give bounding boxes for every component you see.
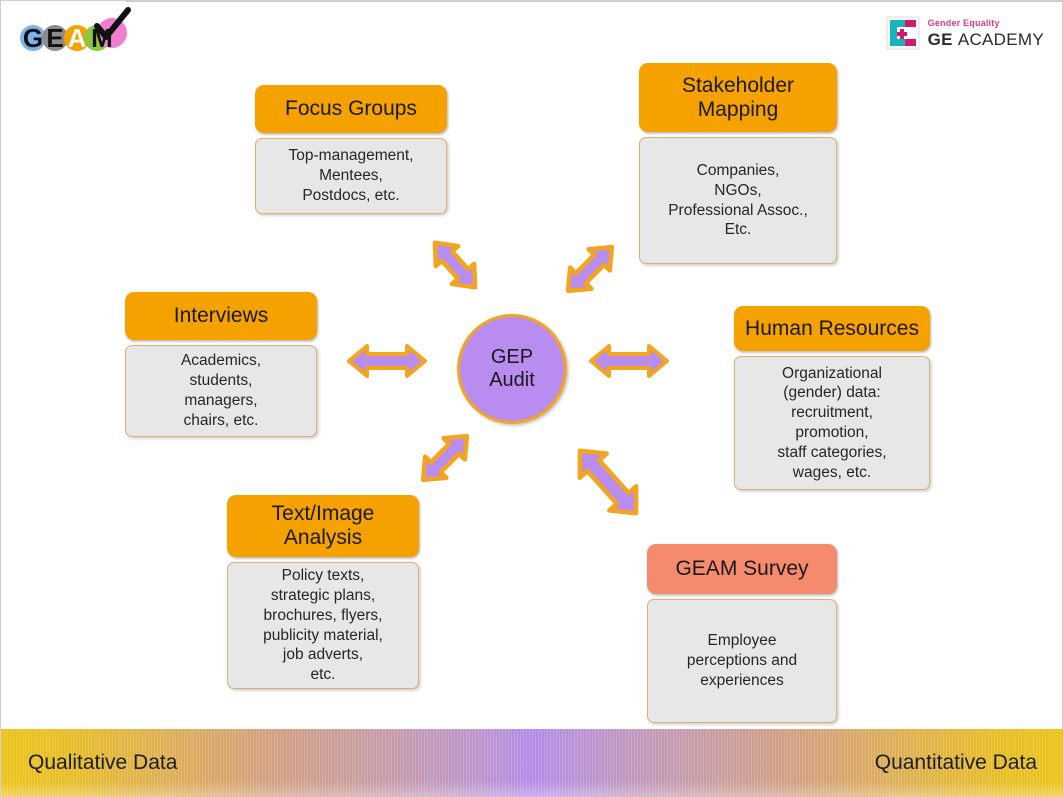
geam-logo-letter-g: G bbox=[23, 23, 43, 53]
node-focus-groups-body: Top-management, Mentees, Postdocs, etc. bbox=[255, 138, 447, 214]
arrow-lower-left bbox=[412, 426, 478, 490]
node-interviews-title[interactable]: Interviews bbox=[125, 292, 317, 340]
ge-academy-name: GE ACADEMY bbox=[928, 31, 1044, 48]
geam-logo-letter-e: E bbox=[46, 23, 63, 53]
ge-academy-tagline: Gender Equality bbox=[928, 19, 1044, 28]
node-focus-groups[interactable]: Focus Groups Top-management, Mentees, Po… bbox=[255, 85, 447, 214]
node-stakeholder-mapping-title[interactable]: Stakeholder Mapping bbox=[639, 63, 837, 132]
quantitative-data-label: Quantitative Data bbox=[875, 751, 1037, 775]
node-text-image-analysis[interactable]: Text/Image Analysis Policy texts, strate… bbox=[227, 495, 419, 689]
arrow-right bbox=[589, 342, 669, 380]
ge-academy-name-rest: ACADEMY bbox=[958, 30, 1044, 49]
node-stakeholder-mapping[interactable]: Stakeholder Mapping Companies, NGOs, Pro… bbox=[639, 63, 837, 264]
node-interviews[interactable]: Interviews Academics, students, managers… bbox=[125, 292, 317, 437]
hub-line-1: GEP bbox=[491, 346, 533, 369]
arrow-left bbox=[347, 342, 427, 380]
node-geam-survey[interactable]: GEAM Survey Employee perceptions and exp… bbox=[647, 544, 837, 723]
node-text-image-analysis-title[interactable]: Text/Image Analysis bbox=[227, 495, 419, 557]
geam-logo-letter-a: A bbox=[68, 23, 87, 53]
node-stakeholder-mapping-body: Companies, NGOs, Professional Assoc., Et… bbox=[639, 137, 837, 264]
ge-academy-name-bold: GE bbox=[928, 30, 958, 49]
node-text-image-analysis-body: Policy texts, strategic plans, brochures… bbox=[227, 562, 419, 689]
ge-academy-mark-icon bbox=[886, 16, 920, 50]
qualitative-data-label: Qualitative Data bbox=[28, 751, 177, 775]
header-divider bbox=[126, 1, 1062, 2]
ge-academy-logo: Gender Equality GE ACADEMY bbox=[886, 15, 1044, 51]
node-focus-groups-title[interactable]: Focus Groups bbox=[255, 85, 447, 133]
slide-canvas: G E A M Gender Equality GE ACADEMY bbox=[0, 0, 1063, 797]
hub-line-2: Audit bbox=[489, 369, 535, 392]
node-human-resources-title[interactable]: Human Resources bbox=[734, 306, 930, 351]
node-geam-survey-title[interactable]: GEAM Survey bbox=[647, 544, 837, 594]
arrow-upper-right bbox=[557, 236, 623, 302]
node-interviews-body: Academics, students, managers, chairs, e… bbox=[125, 345, 317, 437]
node-human-resources[interactable]: Human Resources Organizational (gender) … bbox=[734, 306, 930, 490]
gep-audit-hub[interactable]: GEP Audit bbox=[457, 314, 567, 424]
node-human-resources-body: Organizational (gender) data: recruitmen… bbox=[734, 356, 930, 490]
node-geam-survey-body: Employee perceptions and experiences bbox=[647, 599, 837, 723]
arrow-upper-left bbox=[423, 231, 487, 299]
data-spectrum-bar: Qualitative Data Quantitative Data bbox=[1, 729, 1063, 797]
arrow-lower-right bbox=[564, 433, 652, 531]
geam-logo: G E A M bbox=[9, 7, 134, 55]
